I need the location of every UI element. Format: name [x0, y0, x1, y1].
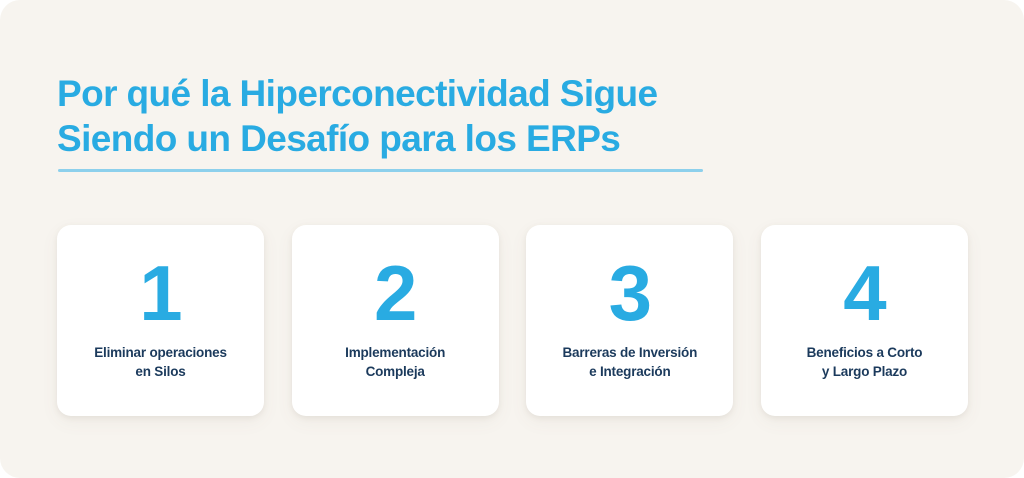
card-label-4: Beneficios a Corto y Largo Plazo — [807, 343, 923, 381]
card-number-4: 4 — [843, 249, 885, 337]
page-title: Por qué la Hiperconectividad Sigue Siend… — [57, 71, 857, 161]
title-divider — [58, 169, 703, 172]
card-number-2: 2 — [374, 249, 416, 337]
card-label-2: Implementación Compleja — [345, 343, 445, 381]
page-title-line-2: Siendo un Desafío para los ERPs — [57, 116, 857, 161]
cards-row: 1 Eliminar operaciones en Silos 2 Implem… — [57, 225, 968, 416]
card-3: 3 Barreras de Inversión e Integración — [526, 225, 733, 416]
card-2: 2 Implementación Compleja — [292, 225, 499, 416]
card-1: 1 Eliminar operaciones en Silos — [57, 225, 264, 416]
card-number-1: 1 — [139, 249, 181, 337]
card-label-1: Eliminar operaciones en Silos — [94, 343, 227, 381]
card-4: 4 Beneficios a Corto y Largo Plazo — [761, 225, 968, 416]
page-title-line-1: Por qué la Hiperconectividad Sigue — [57, 71, 857, 116]
card-label-3: Barreras de Inversión e Integración — [563, 343, 698, 381]
card-number-3: 3 — [609, 249, 651, 337]
infographic-canvas: Por qué la Hiperconectividad Sigue Siend… — [0, 0, 1024, 478]
